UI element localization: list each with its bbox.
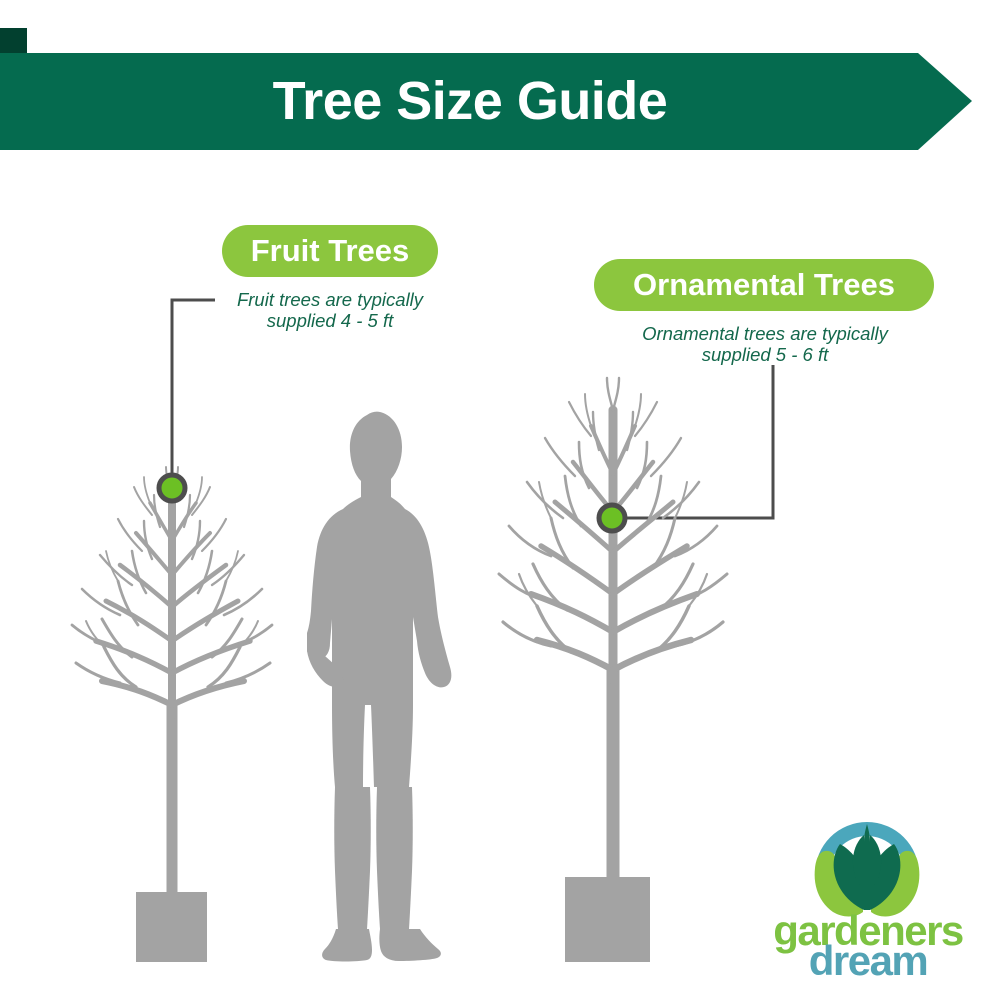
caption-fruit-trees: Fruit trees are typically supplied 4 - 5… — [205, 289, 455, 331]
label-ornamental-trees: Ornamental Trees — [594, 259, 934, 311]
page-title: Tree Size Guide — [0, 53, 940, 150]
standing-person-icon — [307, 412, 451, 962]
person-silhouette-illustration — [305, 405, 475, 965]
ornamental-tree-illustration — [485, 370, 775, 965]
green-dot-marker-icon — [159, 475, 185, 501]
brand-name-line2: dream — [752, 940, 984, 982]
hands-cradling-plant-logo-icon — [807, 806, 927, 918]
fruit-tree-illustration — [40, 455, 310, 965]
label-fruit-trees: Fruit Trees — [222, 225, 438, 277]
height-marker-ornamental — [596, 502, 628, 534]
brand-logo: gardeners dream — [752, 806, 984, 982]
tree-pot — [136, 892, 207, 962]
pill-label-text: Fruit Trees — [251, 233, 410, 269]
caption-ornamental-trees: Ornamental trees are typically supplied … — [615, 323, 915, 365]
tree-canopy-icon — [72, 467, 272, 955]
green-dot-marker-icon — [599, 505, 625, 531]
height-marker-fruit — [156, 472, 188, 504]
tree-pot — [565, 877, 650, 962]
pill-label-text: Ornamental Trees — [633, 267, 895, 303]
tree-canopy-icon — [499, 378, 727, 955]
banner-fold-triangle — [0, 28, 27, 53]
brand-wordmark: gardeners dream — [752, 910, 984, 982]
infographic-page: Tree Size Guide Fruit Trees Fruit trees … — [0, 0, 1000, 1000]
